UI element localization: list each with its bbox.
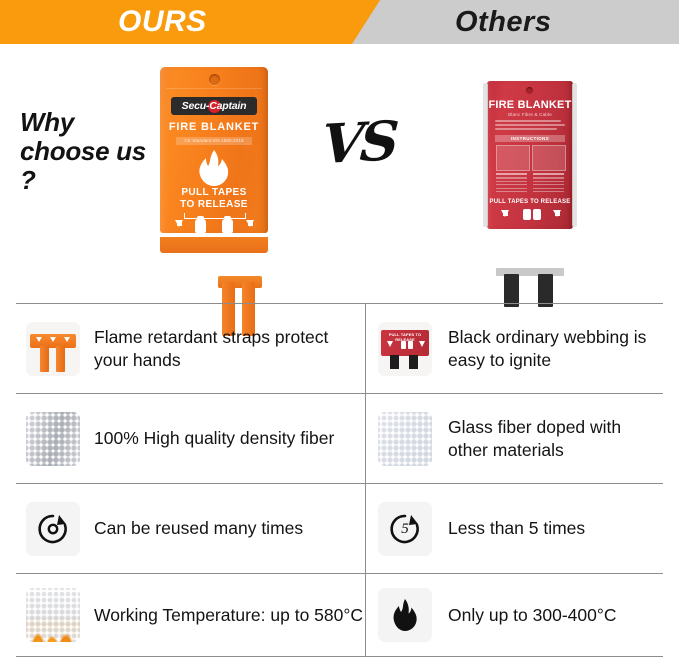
dense-fiber-texture-icon [26,412,80,466]
instruction-illustration [532,145,566,171]
feature-text: Can be reused many times [94,517,303,540]
instruction-illustration [496,145,530,171]
versus-label: VS [320,108,404,182]
hero-section: Why choose us ? Secu-Captain FIRE BLANKE… [0,44,679,303]
brand-logo-plate: Secu-Captain [171,97,257,115]
others-package-subtitle: Blanc Fibre & Cable [487,112,573,117]
page-title: Why choose us ? [20,108,160,195]
feature-text: Only up to 300-400°C [448,604,617,627]
down-arrow-icon [501,210,509,217]
hand-icon [195,219,206,233]
fiber-flame-icon [26,588,80,642]
down-arrow-icon [246,220,254,227]
others-cell: 5 Less than 5 times [365,484,663,573]
flame-icon [378,588,432,642]
feature-text: Flame retardant straps protect your hand… [94,326,365,372]
table-row: Can be reused many times 5 Less than 5 t… [16,484,663,574]
down-arrow-icon [553,210,561,217]
feature-text: Glass fiber doped with other materials [448,416,663,462]
feature-text: Working Temperature: up to 580°C [94,604,363,627]
package-base [160,237,268,253]
ours-pull-instruction: PULL TAPES TO RELEASE [160,187,268,211]
comparison-table: Flame retardant straps protect your hand… [16,303,663,657]
pull-line-2: TO RELEASE [180,199,248,210]
ours-cell: 100% High quality density fiber [16,394,365,483]
feature-text: Black ordinary webbing is easy to ignite [448,326,663,372]
feature-text: 100% High quality density fiber [94,427,334,450]
others-product-package: FIRE BLANKET Blanc Fibre & Cable INSTRUC… [487,81,573,229]
table-row: 100% High quality density fiber Glass fi… [16,394,663,484]
others-cell: Only up to 300-400°C [365,574,663,656]
comparison-header-banner: OURS Others [0,0,679,44]
pull-line-1: PULL TAPES [181,187,246,198]
ours-cell: Can be reused many times [16,484,365,573]
feature-text: Less than 5 times [448,517,585,540]
reuse-infinite-icon [26,502,80,556]
others-pull-instruction: PULL TAPES TO RELEASE [487,199,573,205]
orange-straps-icon [26,322,80,376]
hang-hole-icon [526,87,533,94]
ours-package-title: FIRE BLANKET [160,121,268,133]
hand-icon [533,209,541,220]
reuse-five-times-icon: 5 [378,502,432,556]
down-arrow-icon [175,220,183,227]
brand-name: Secu-Captain [171,97,257,115]
flame-icon [194,149,234,187]
ours-cell: Flame retardant straps protect your hand… [16,304,365,393]
header-ours-label: OURS [118,0,207,44]
doped-fiber-texture-icon [378,412,432,466]
others-package-title: FIRE BLANKET [487,99,573,111]
header-others-label: Others [455,0,551,44]
pull-icon-row [170,219,258,237]
table-row: Flame retardant straps protect your hand… [16,304,663,394]
ours-package-standard: CE Standard EN 1869:2019 [176,137,252,145]
others-pull-icon-row [497,208,563,222]
others-text-block [495,120,565,132]
ours-product-package: Secu-Captain FIRE BLANKET CE Standard EN… [160,67,268,233]
hand-icon [222,219,233,233]
black-webbing-icon: PULL TAPES TO RELEASE [378,322,432,376]
table-row: Working Temperature: up to 580°C Only up… [16,574,663,657]
reuse-count-label: 5 [378,502,432,556]
ours-cell: Working Temperature: up to 580°C [16,574,365,656]
others-cell: PULL TAPES TO RELEASE Black ordinary web… [365,304,663,393]
hand-icon [523,209,531,220]
others-cell: Glass fiber doped with other materials [365,394,663,483]
others-instructions-label: INSTRUCTIONS [495,135,565,142]
hang-hole-icon [209,74,220,85]
